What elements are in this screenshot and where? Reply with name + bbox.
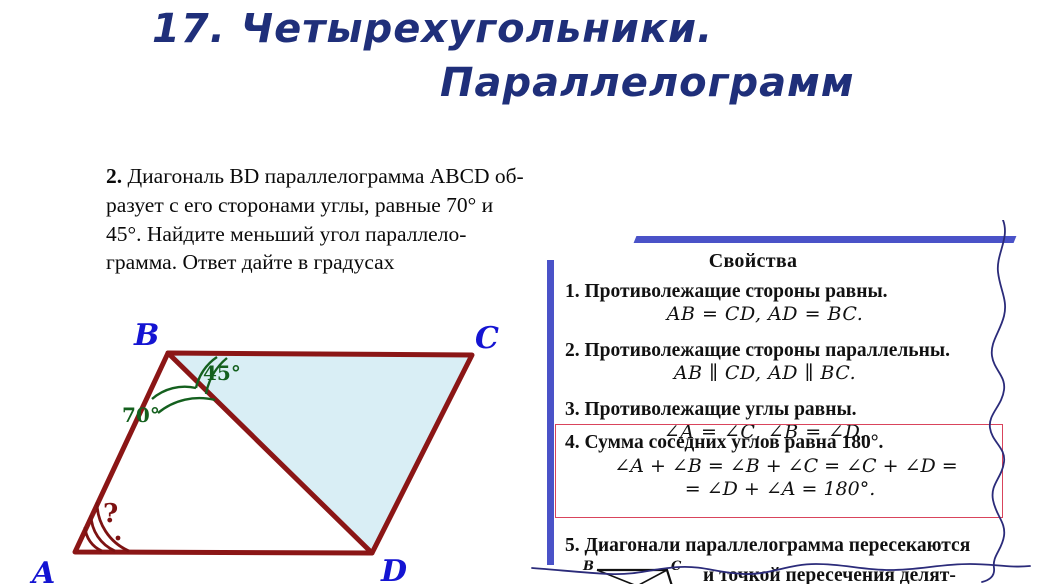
property-item-4: 4. Сумма соседних углов равна 180°.∠A + … [565, 431, 1025, 501]
property-4-formula: ∠A + ∠B = ∠B + ∠C = ∠C + ∠D = [565, 455, 1025, 478]
property-3-num: 3. [565, 399, 580, 420]
property-5-text: Диагонали параллелограмма пересекаются [580, 535, 971, 556]
property-5-num: 5. [565, 535, 580, 556]
vertex-label-c: C [475, 321, 499, 356]
property-4-text: Сумма соседних углов равна 180°. [580, 432, 884, 453]
mini-fig-outline [597, 570, 677, 584]
slide-page: 17. Четырехугольники. Параллелограмм 2. … [0, 0, 1040, 584]
geometry-figure: A B C D 70° 45° ? [0, 300, 540, 584]
properties-card: Свойства 1. Противолежащие стороны равны… [533, 228, 1040, 584]
page-title-line-1: 17. Четырехугольники. [0, 2, 900, 56]
mini-fig-diagonal-1 [597, 570, 677, 584]
vertex-label-a: A [29, 556, 55, 584]
mini-fig-label-b: B [582, 559, 594, 574]
property-2-num: 2. [565, 340, 580, 361]
angle-label-dbc: 45° [203, 361, 241, 385]
problem-text: Диагональ BD параллелограмма ABCD об-раз… [106, 164, 524, 274]
problem-statement: 2. Диагональ BD параллелограмма ABCD об-… [106, 162, 531, 277]
property-1-num: 1. [565, 281, 580, 302]
property-2-formula: AB ∥ CD, AD ∥ BC. [565, 362, 1035, 384]
properties-heading: Свойства [543, 250, 963, 273]
page-title: 17. Четырехугольники. Параллелограмм [0, 2, 900, 110]
property-item-5: 5. Диагонали параллелограмма пересекаютс… [565, 534, 1035, 557]
property-5-text-2: и точкой пересечения делят- [703, 565, 956, 584]
property-4-formula-2: = ∠D + ∠A = 180°. [565, 478, 1025, 501]
angle-label-abd: 70° [122, 403, 160, 427]
property-3-text: Противолежащие углы равны. [580, 399, 857, 420]
accent-bar-left [547, 260, 554, 565]
vertex-label-b: B [133, 318, 159, 353]
problem-number: 2. [106, 164, 122, 188]
vertex-label-d: D [380, 554, 407, 584]
property-4-num: 4. [565, 432, 580, 453]
question-dot [116, 536, 121, 541]
angle-arc-abd-2 [158, 398, 215, 413]
property-5-mini-figure: B C [581, 558, 701, 584]
angle-label-a-unknown: ? [103, 499, 118, 529]
property-1-text: Противолежащие стороны равны. [580, 281, 888, 302]
angle-arc-abd [152, 387, 196, 399]
property-2-text: Противолежащие стороны параллельны. [580, 340, 950, 361]
mini-fig-label-c: C [671, 559, 682, 574]
page-title-line-2: Параллелограмм [0, 56, 900, 110]
properties-inner: Свойства 1. Противолежащие стороны равны… [543, 228, 1040, 584]
property-1-formula: AB = CD, AD = BC. [565, 303, 1035, 325]
property-item-2: 2. Противолежащие стороны параллельны.AB… [565, 339, 1035, 384]
property-item-1: 1. Противолежащие стороны равны.AB = CD,… [565, 280, 1035, 325]
accent-bar-top [634, 236, 1017, 243]
